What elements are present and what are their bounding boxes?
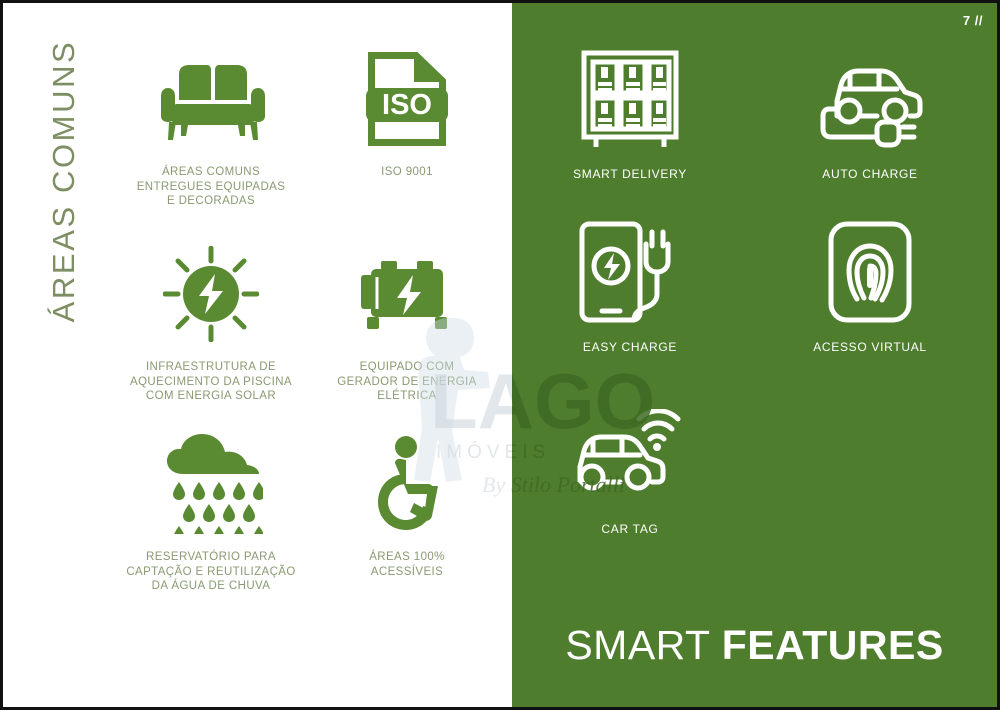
feature-caption: ÁREAS 100% ACESSÍVEIS: [309, 550, 505, 579]
feature-caption: AUTO CHARGE: [770, 167, 970, 181]
right-panel: 7 //: [512, 3, 997, 707]
headline-smart: SMART: [565, 622, 721, 668]
smart-features-grid: SMART DELIVERY: [512, 43, 997, 563]
wheelchair-accessibility-icon: [309, 428, 505, 540]
generator-icon: [309, 238, 505, 350]
feature-smart-delivery: SMART DELIVERY: [530, 43, 730, 181]
feature-auto-charge: AUTO CHARGE: [770, 43, 970, 181]
feature-aquecimento-piscina-solar: INFRAESTRUTURA DE AQUECIMENTO DA PISCINA…: [113, 238, 309, 404]
feature-caption: ISO 9001: [309, 165, 505, 180]
iso-document-icon: ISO: [309, 43, 505, 155]
sofa-icon: [113, 43, 309, 155]
feature-caption: EQUIPADO COM GERADOR DE ENERGIA ELÉTRICA: [309, 360, 505, 404]
feature-caption: SMART DELIVERY: [530, 167, 730, 181]
section-title-areas-comuns: ÁREAS COMUNS: [46, 16, 82, 346]
left-feature-grid: ÁREAS COMUNS ENTREGUES EQUIPADAS E DECOR…: [113, 43, 505, 623]
feature-acesso-virtual: ACESSO VIRTUAL: [770, 216, 970, 354]
car-charge-plug-icon: [770, 43, 970, 155]
feature-areas-comuns-equipadas: ÁREAS COMUNS ENTREGUES EQUIPADAS E DECOR…: [113, 43, 309, 209]
feature-car-tag: CAR TAG: [530, 398, 730, 536]
feature-caption: INFRAESTRUTURA DE AQUECIMENTO DA PISCINA…: [113, 360, 309, 404]
feature-easy-charge: EASY CHARGE: [530, 216, 730, 354]
delivery-locker-icon: [530, 43, 730, 155]
feature-caption: RESERVATÓRIO PARA CAPTAÇÃO E REUTILIZAÇÃ…: [113, 550, 309, 594]
car-tag-signal-icon: [530, 398, 730, 510]
page-number: 7 //: [963, 13, 983, 28]
feature-caption: CAR TAG: [530, 522, 730, 536]
fingerprint-icon: [770, 216, 970, 328]
svg-text:ISO: ISO: [382, 89, 432, 121]
headline-features: FEATURES: [722, 622, 944, 668]
phone-charge-icon: [530, 216, 730, 328]
feature-caption: ACESSO VIRTUAL: [770, 340, 970, 354]
presentation-slide: ÁREAS COMUNS: [0, 0, 1000, 710]
feature-caption: EASY CHARGE: [530, 340, 730, 354]
solar-sun-bolt-icon: [113, 238, 309, 350]
rain-cloud-icon: [113, 428, 309, 540]
smart-features-headline: SMART FEATURES: [512, 622, 997, 669]
feature-iso-9001: ISO ISO 9001: [309, 43, 505, 180]
left-panel: ÁREAS COMUNS: [3, 3, 512, 707]
feature-gerador-energia: EQUIPADO COM GERADOR DE ENERGIA ELÉTRICA: [309, 238, 505, 404]
feature-caption: ÁREAS COMUNS ENTREGUES EQUIPADAS E DECOR…: [113, 165, 309, 209]
feature-areas-acessiveis: ÁREAS 100% ACESSÍVEIS: [309, 428, 505, 579]
feature-reservatorio-agua-chuva: RESERVATÓRIO PARA CAPTAÇÃO E REUTILIZAÇÃ…: [113, 428, 309, 594]
